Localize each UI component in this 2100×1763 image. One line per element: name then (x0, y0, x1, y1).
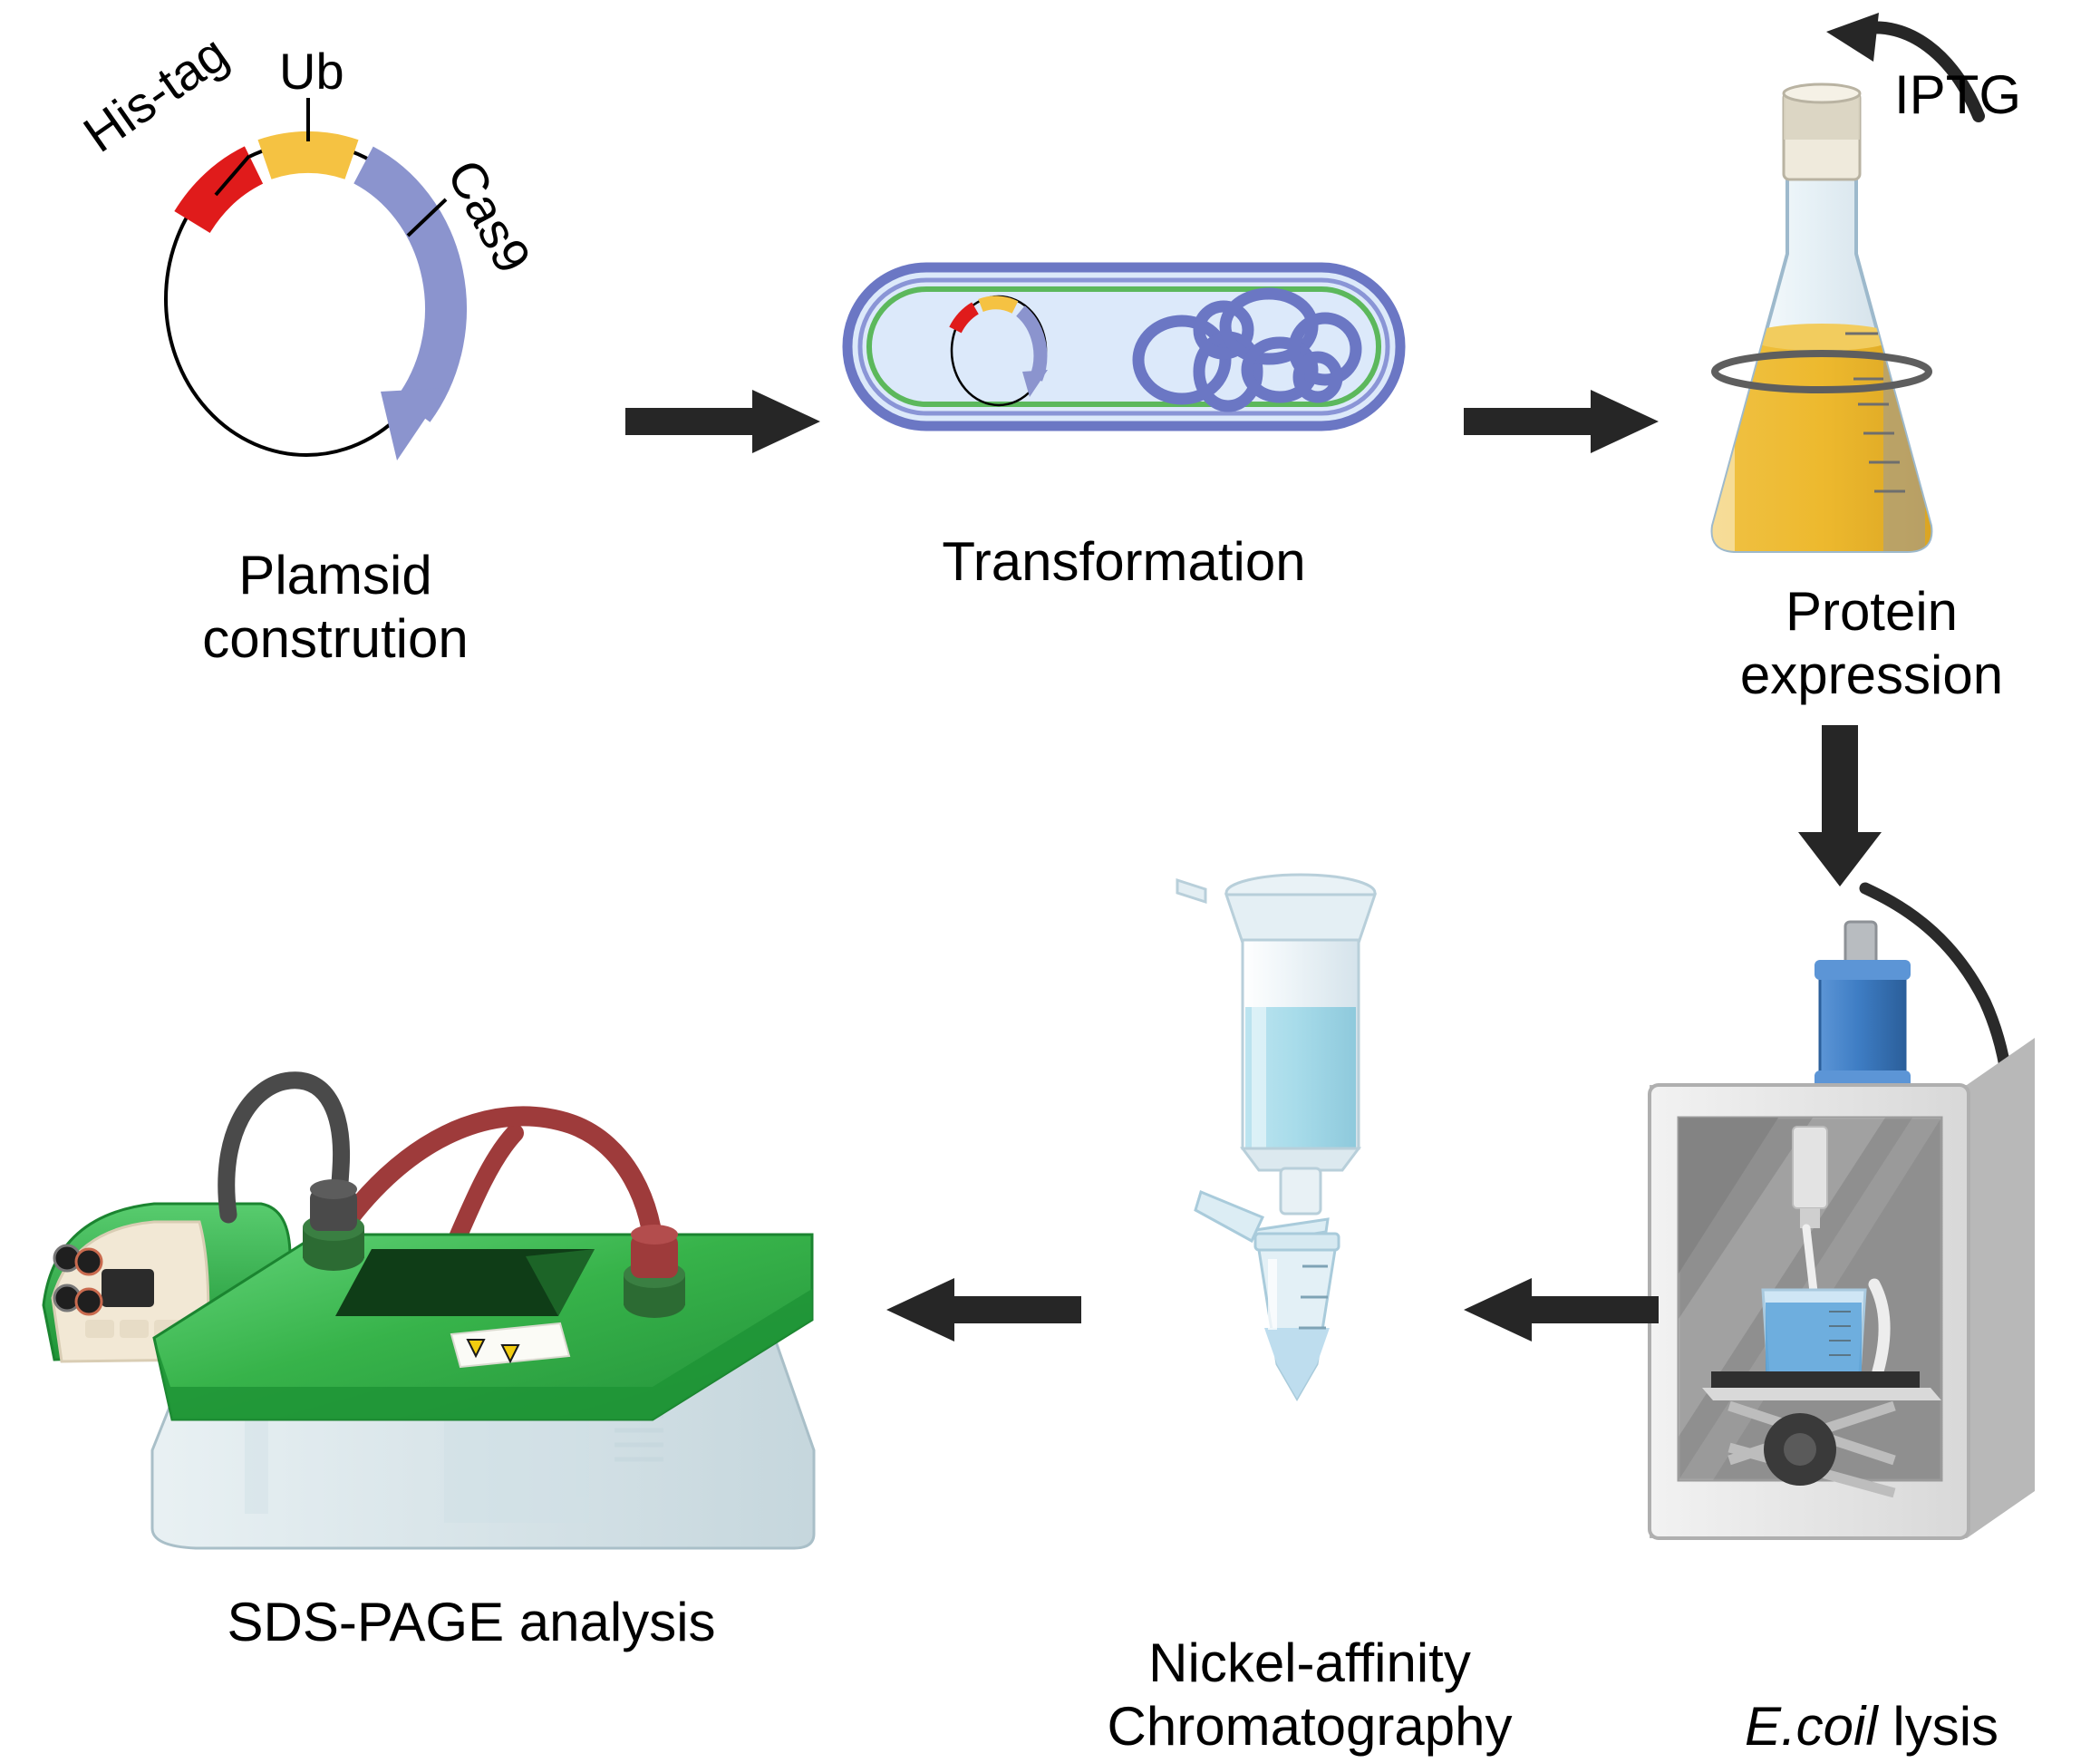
sonicator-probe-head (1793, 1127, 1827, 1208)
cas9-segment (363, 165, 446, 410)
ub-label: Ub (279, 43, 344, 100)
arrow-chromatography-to-sdspage (886, 1269, 1086, 1351)
lysis-caption: E.coil lysis (1659, 1632, 2085, 1758)
lid-electrode-black[interactable] (303, 1179, 364, 1271)
sds-page-apparatus (18, 997, 870, 1559)
arrow-lysis-to-chromatography (1464, 1269, 1663, 1351)
ub-segment (265, 152, 352, 160)
his-tag-segment (192, 165, 254, 222)
cas9-arrowhead (381, 388, 446, 460)
arrow-expression-to-lysis (1793, 725, 1892, 888)
ultrasonic-transducer (1820, 964, 1905, 1086)
platform-edge (1702, 1388, 1941, 1400)
spin-column-assembly (1165, 857, 1437, 1600)
lysis-caption-word: lysis (1878, 1696, 1998, 1757)
column-cap-tab (1177, 880, 1205, 902)
arrow-plasmid-to-transformation (625, 381, 825, 462)
plasmid-construct: His-tag Ub Cas9 (109, 54, 689, 526)
bacterial-cell (843, 263, 1405, 431)
plasmid-caption: Plamsid constrution (136, 544, 535, 670)
platform-plate (1711, 1371, 1920, 1388)
tube-eluate (1264, 1328, 1330, 1399)
lysis-caption-species: E.coil (1745, 1696, 1878, 1757)
column-outlet (1281, 1168, 1321, 1214)
lid-electrode-red[interactable] (624, 1225, 685, 1318)
erlenmeyer-flask (1686, 73, 1958, 562)
sonicator-apparatus (1622, 893, 2085, 1618)
expression-caption: Protein expression (1659, 580, 2085, 706)
column-shoulder (1226, 895, 1375, 943)
tube-collar (1255, 1234, 1339, 1250)
workflow-diagram: His-tag Ub Cas9 Plamsid constrution (0, 0, 2100, 1763)
transformation-caption: Transformation (852, 530, 1396, 594)
tube-lid-open (1195, 1192, 1263, 1241)
arrow-transformation-to-expression (1464, 381, 1663, 462)
sdspage-caption: SDS-PAGE analysis (127, 1591, 816, 1654)
power-supply-display (102, 1269, 154, 1307)
lysate-liquid (1766, 1303, 1862, 1373)
his-tag-label: His-tag (73, 24, 237, 162)
chromatography-caption: Nickel-affinity Chromatography (1056, 1632, 1563, 1758)
cable-connector (1845, 922, 1876, 965)
column-frit (1243, 1148, 1359, 1170)
